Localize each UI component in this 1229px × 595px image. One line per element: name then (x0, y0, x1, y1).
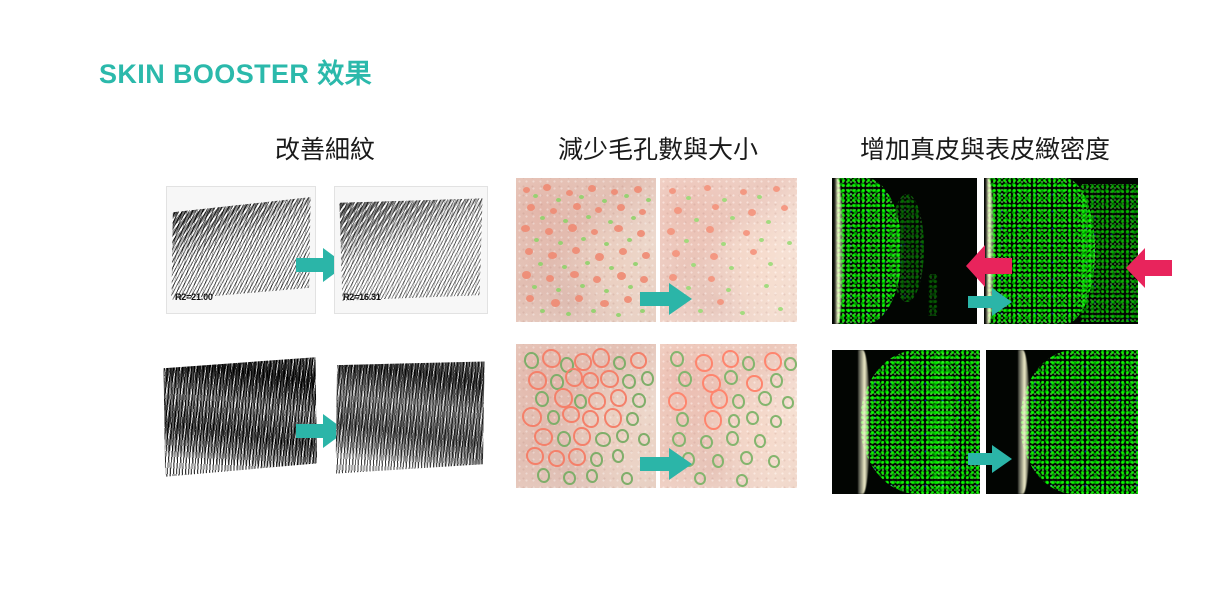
collagen-band (860, 350, 980, 494)
surface-relief-texture (162, 356, 317, 478)
image-panel-fine-lines-row1-after: R2=16.31 (334, 186, 488, 314)
surface-relief-texture (338, 194, 484, 304)
fluorescence-image-before (832, 178, 977, 324)
image-panel-fine-lines-row2-after (334, 352, 486, 482)
collagen-band-inner (928, 350, 954, 494)
slide-root: SKIN BOOSTER 效果 改善細紋 減少毛孔數與大小 增加真皮與表皮緻密度… (0, 0, 1229, 595)
pore-outline-photo-before (516, 344, 656, 488)
column-heading-fine-lines: 改善細紋 (150, 130, 500, 166)
collagen-speck (928, 274, 938, 316)
page-title: SKIN BOOSTER 效果 (99, 52, 372, 91)
surface-relief-texture (334, 358, 486, 476)
collagen-band-sparse (890, 194, 924, 302)
arrow-right-icon-col3-row2 (968, 445, 1012, 473)
arrow-left-icon-col3-row1-edge (1126, 248, 1172, 288)
column-heading-dermal-density: 增加真皮與表皮緻密度 (830, 130, 1140, 166)
image-panel-fine-lines-row1-before: R2=21.00 (166, 186, 316, 314)
collagen-band (1020, 350, 1138, 494)
r2-value-before: R2=21.00 (175, 292, 213, 302)
column-heading-pores: 減少毛孔數與大小 (510, 130, 806, 166)
fluorescence-image-before (832, 350, 980, 494)
r2-value-after: R2=16.31 (343, 292, 381, 302)
pore-photo-before (516, 178, 656, 322)
image-panel-fine-lines-row2-before (162, 352, 317, 482)
arrow-right-icon-col2-row1 (640, 283, 692, 315)
arrow-right-icon-col3-row1 (968, 288, 1012, 316)
surface-relief-texture (170, 195, 312, 303)
arrow-right-icon-col2-row2 (640, 448, 692, 480)
arrow-left-icon-col3-row1 (966, 245, 1012, 287)
skin-texture (516, 178, 656, 322)
